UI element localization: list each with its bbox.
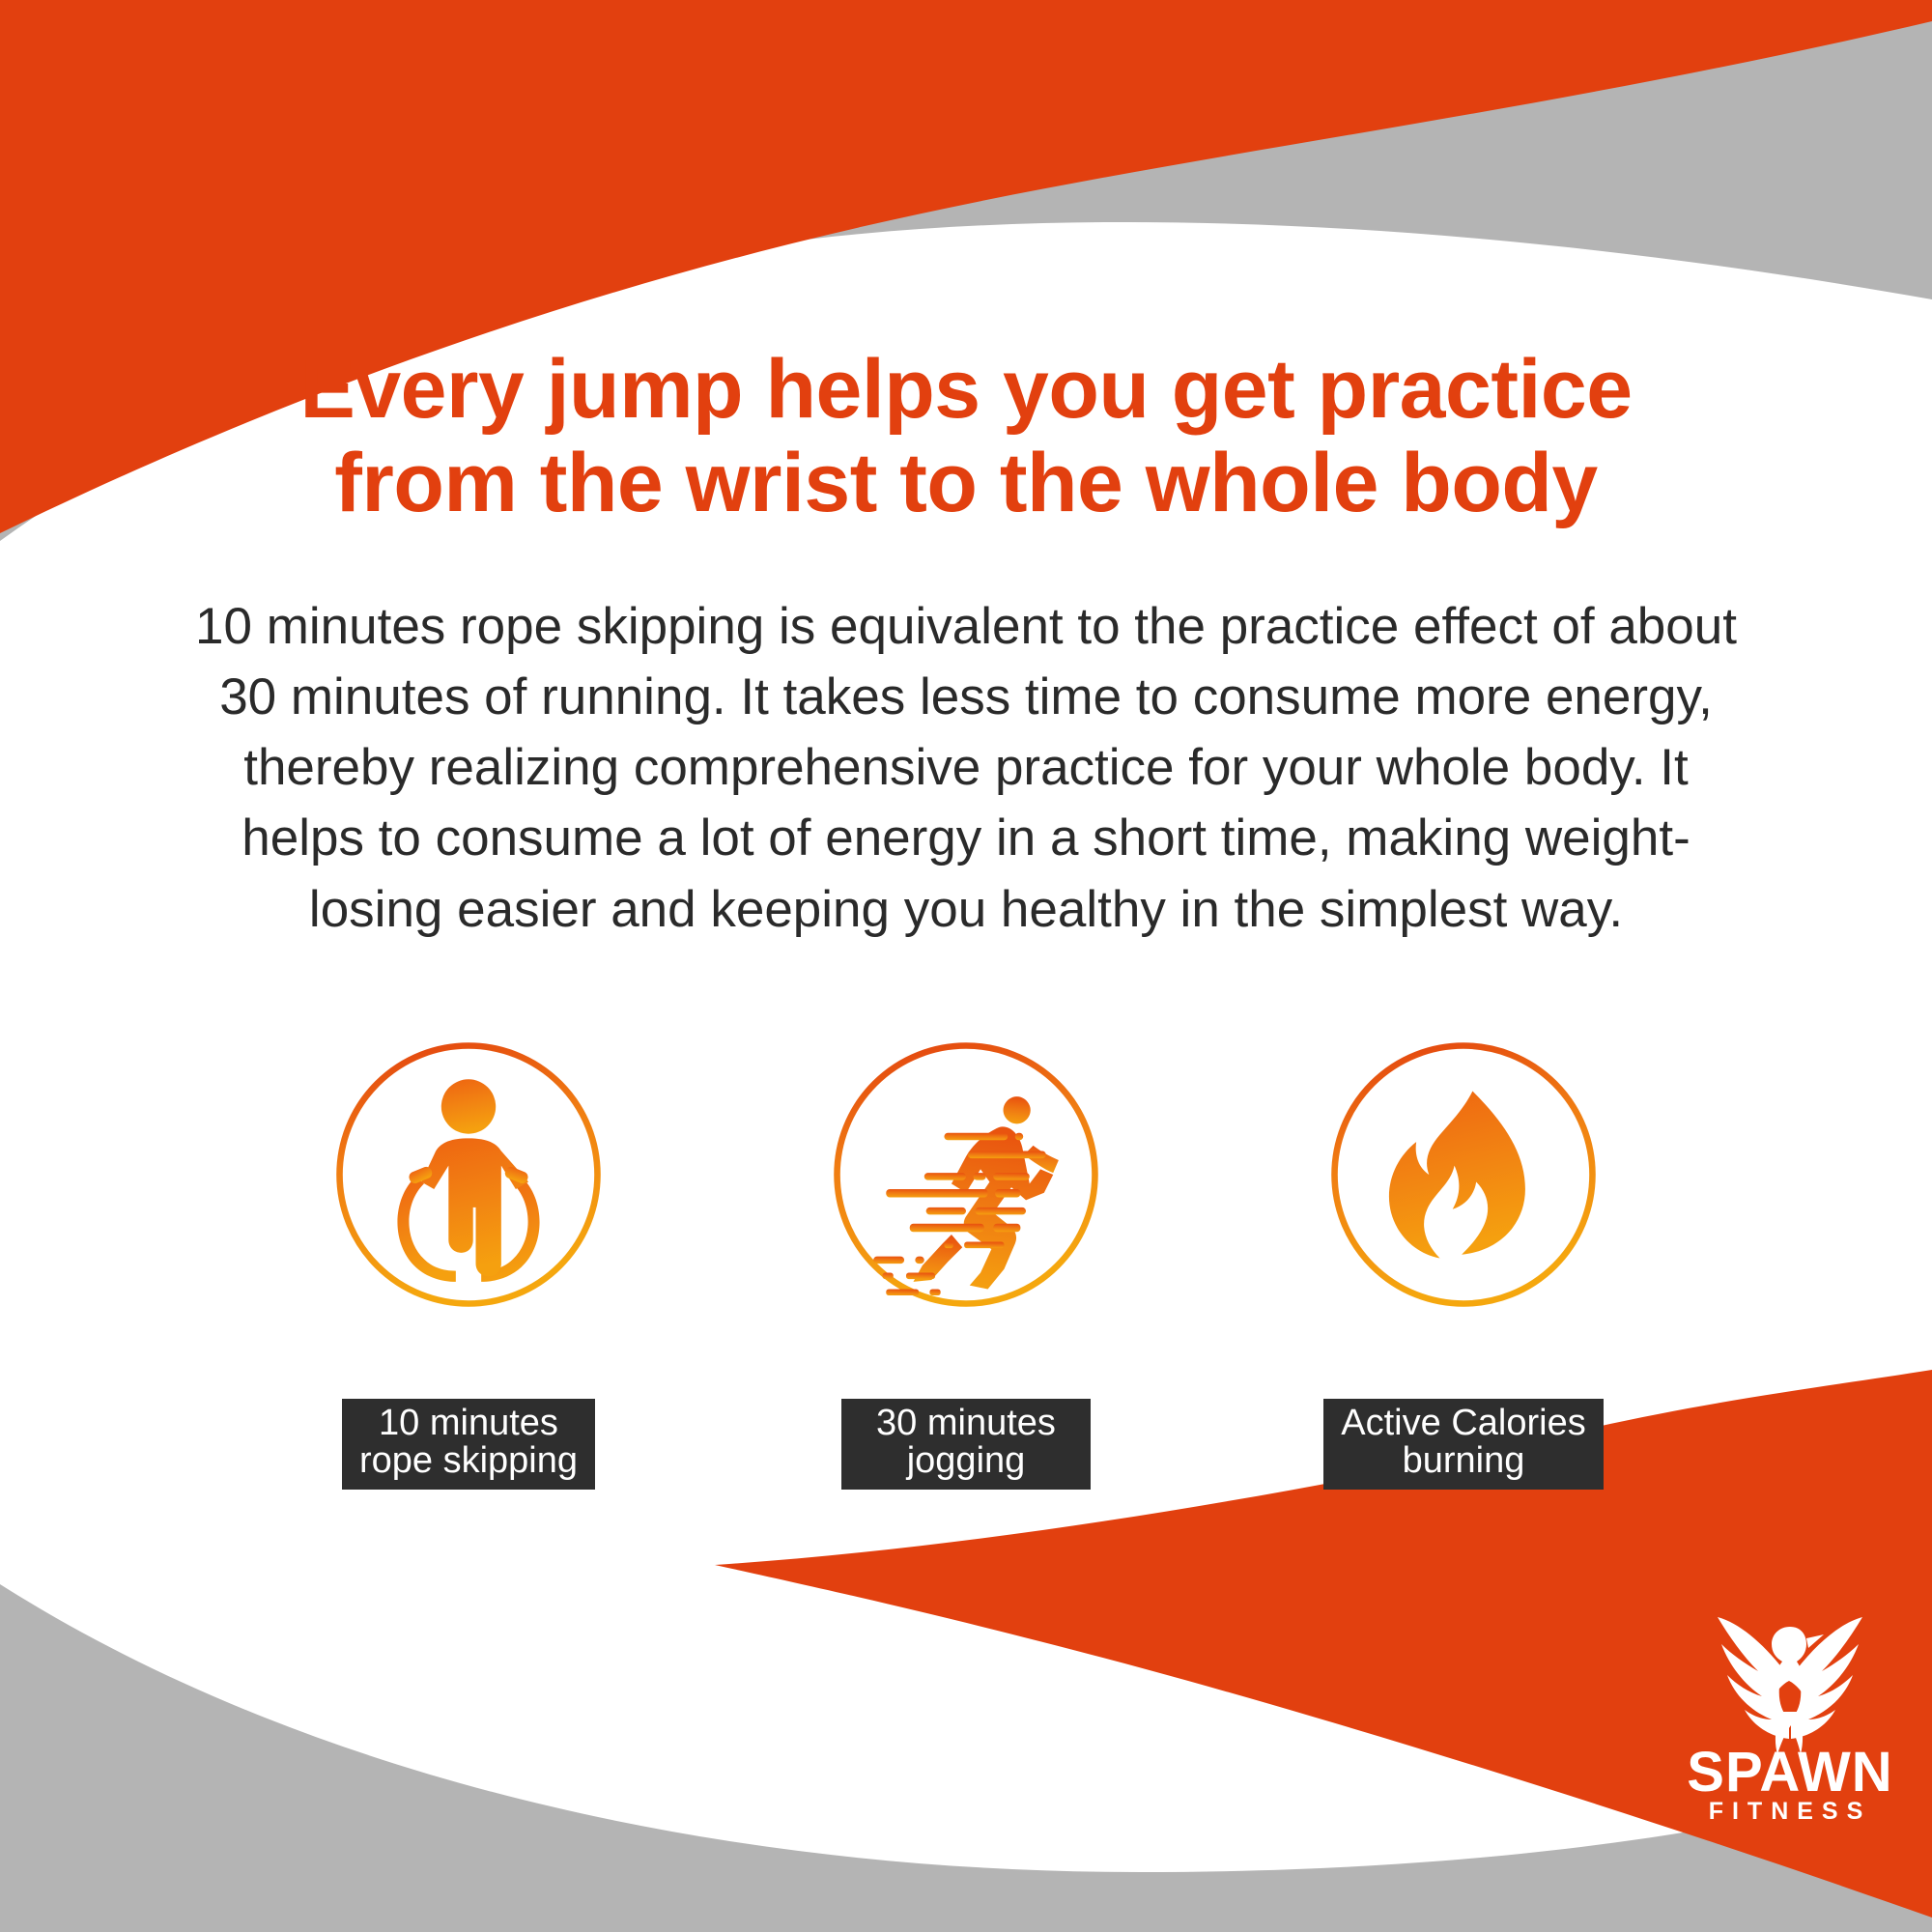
phoenix-icon: [1718, 1617, 1862, 1754]
label-cell-calories: Active Calories burning: [1323, 1399, 1604, 1490]
feature-item-jogging: [826, 1038, 1106, 1311]
logo-wordmark: SPAWN: [1687, 1741, 1892, 1804]
feature-item-calories: [1323, 1038, 1604, 1311]
feature-item-rope-skipping: [328, 1038, 609, 1311]
headline-line-2: from the wrist to the whole body: [213, 437, 1719, 530]
label-cell-jogging: 30 minutes jogging: [826, 1399, 1106, 1490]
page-title: Every jump helps you get practice from t…: [213, 343, 1719, 530]
infographic-poster: Every jump helps you get practice from t…: [0, 0, 1932, 1932]
status-badge-calories: Active Calories burning: [1323, 1399, 1603, 1490]
headline-line-1: Every jump helps you get practice: [213, 343, 1719, 437]
body-paragraph: 10 minutes rope skipping is equivalent t…: [193, 591, 1739, 945]
logo-tagline: FITNESS: [1709, 1798, 1872, 1825]
label-line-2: rope skipping: [359, 1442, 578, 1480]
label-line-2: jogging: [859, 1442, 1073, 1480]
jump-rope-icon: [332, 1038, 605, 1311]
label-line-2: burning: [1341, 1442, 1585, 1480]
feature-label-row: 10 minutes rope skipping 30 minutes jogg…: [328, 1399, 1604, 1476]
running-person-icon: [830, 1038, 1102, 1311]
feature-icon-row: [328, 1038, 1604, 1328]
label-line-1: 10 minutes: [359, 1405, 578, 1442]
status-badge-rope-skipping: 10 minutes rope skipping: [342, 1399, 595, 1490]
label-cell-rope-skipping: 10 minutes rope skipping: [328, 1399, 609, 1490]
brand-logo: SPAWN FITNESS: [1679, 1584, 1901, 1826]
flame-icon: [1327, 1038, 1600, 1311]
status-badge-jogging: 30 minutes jogging: [841, 1399, 1091, 1490]
speed-lines: [873, 1133, 1046, 1295]
label-line-1: 30 minutes: [859, 1405, 1073, 1442]
label-line-1: Active Calories: [1341, 1405, 1585, 1442]
